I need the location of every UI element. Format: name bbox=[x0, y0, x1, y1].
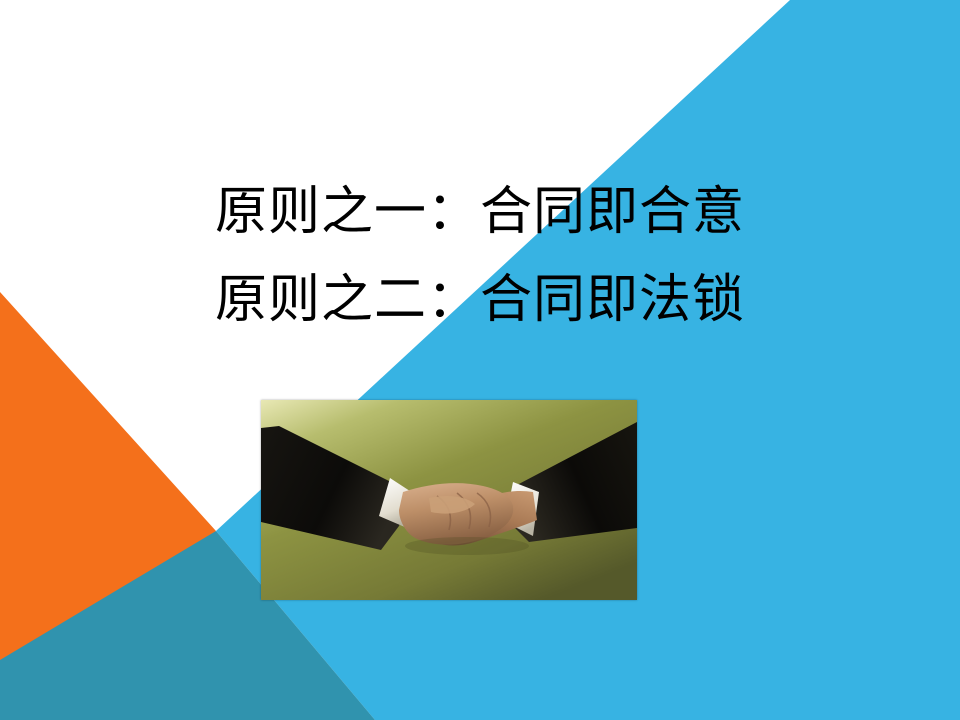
slide-background-graphics bbox=[0, 0, 960, 720]
title-line-1: 原则之一：合同即合意 bbox=[0, 168, 960, 256]
handshake-photo bbox=[261, 400, 637, 600]
presentation-slide: 原则之一：合同即合意 原则之二：合同即法锁 bbox=[0, 0, 960, 720]
blue-diagonal-wedge bbox=[216, 0, 960, 720]
orange-triangle bbox=[0, 292, 216, 720]
handshake-illustration bbox=[261, 400, 637, 600]
slide-background bbox=[0, 0, 960, 720]
title-line-2: 原则之二：合同即法锁 bbox=[0, 256, 960, 344]
slide-title: 原则之一：合同即合意 原则之二：合同即法锁 bbox=[0, 168, 960, 344]
